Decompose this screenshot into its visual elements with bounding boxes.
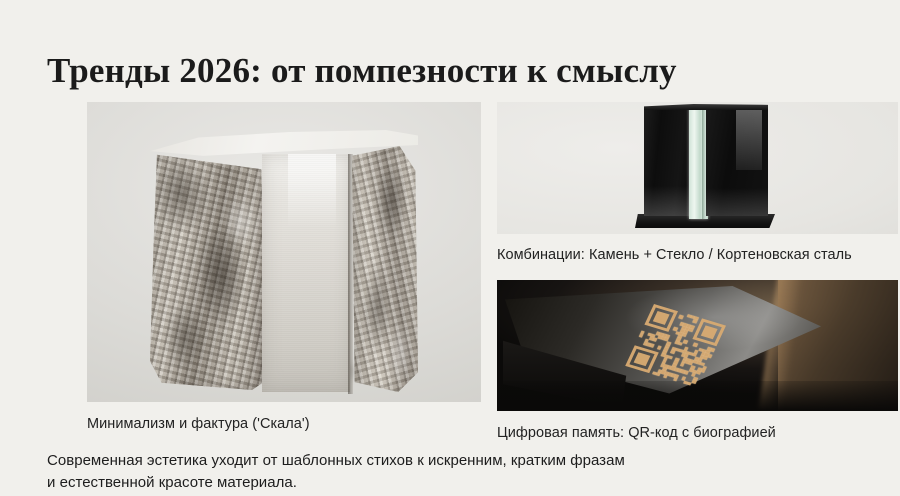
stone-groove bbox=[348, 154, 353, 394]
figure-glass: Комбинации: Камень + Стекло / Кортеновск… bbox=[497, 102, 818, 264]
glass-monument-photo bbox=[497, 102, 898, 234]
left-column: Минимализм и фактура ('Скала') bbox=[47, 86, 441, 449]
caption-glass: Комбинации: Камень + Стекло / Кортеновск… bbox=[497, 246, 818, 264]
caption-qr: Цифровая память: QR-код с биографией bbox=[497, 424, 818, 442]
stone-rough-right bbox=[352, 146, 418, 392]
stone-polished-panel bbox=[262, 154, 350, 392]
stone-block bbox=[150, 130, 418, 392]
stone-monument-photo bbox=[87, 102, 481, 402]
slide-canvas: Тренды 2026: от помпезности к смыслу Мин… bbox=[0, 0, 900, 496]
qr-slab-photo bbox=[497, 280, 898, 411]
body-paragraph: Современная эстетика уходит от шаблонных… bbox=[47, 450, 807, 494]
caption-stone: Минимализм и фактура ('Скала') bbox=[87, 415, 401, 433]
body-line-2: и естественной красоте материала. bbox=[47, 472, 807, 494]
right-column: Комбинации: Камень + Стекло / Кортеновск… bbox=[457, 86, 858, 458]
granite-slab-left bbox=[644, 108, 692, 216]
figure-stone: Минимализм и фактура ('Скала') bbox=[87, 102, 401, 433]
granite-slab-right bbox=[706, 106, 768, 216]
body-line-1: Современная эстетика уходит от шаблонных… bbox=[47, 450, 807, 472]
granite-top-rim bbox=[644, 104, 768, 110]
stone-rough-left bbox=[150, 150, 266, 390]
figure-qr: Цифровая память: QR-код с биографией bbox=[497, 280, 818, 442]
